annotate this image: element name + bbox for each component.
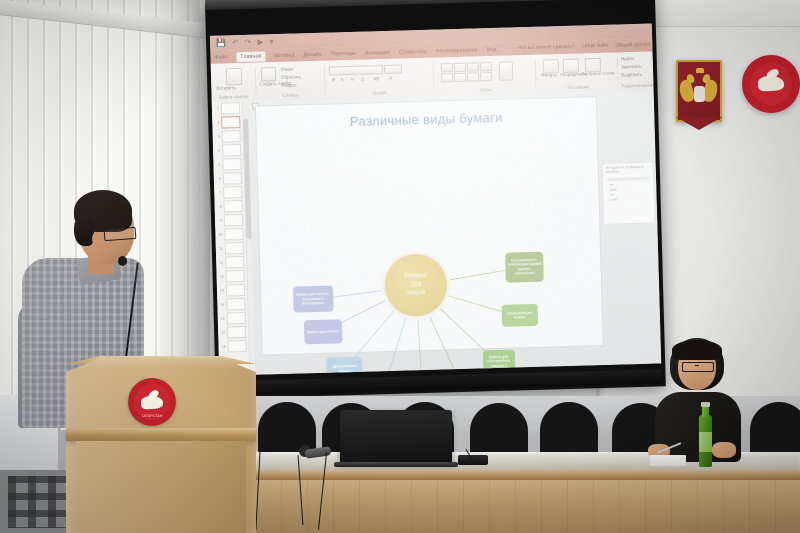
diagram-connector (440, 309, 490, 357)
hub-line-2: 229 (410, 281, 421, 290)
slide-thumbnail-image[interactable] (221, 102, 240, 115)
slide-title[interactable]: Различные виды бумаги (256, 107, 596, 131)
present-icon[interactable]: ▶ (257, 37, 263, 46)
conference-room-photo: 💾 ↶ ↷ ▶ ▾ КУ СОЭ - PowerPoint ▢ – □ ✕ Фа… (0, 0, 800, 533)
diagram-node[interactable]: Промышленно-техническая бумага разного н… (505, 251, 544, 282)
tab-file[interactable]: Файл (214, 54, 227, 60)
podium-emblem-caption: ТАТАРСТАН (128, 414, 176, 418)
side-pane-item-4[interactable]: отоб (604, 197, 654, 203)
slide-number: 11 (218, 247, 223, 251)
slide-thumbnail-image[interactable] (225, 242, 244, 255)
align-center-icon[interactable] (454, 73, 466, 82)
ribbon-group-editing[interactable]: Найти Заменить Выделить Редактирование (621, 54, 654, 89)
tab-view[interactable]: Вид (486, 46, 496, 52)
slide-number: 2 (214, 121, 219, 125)
redo-icon[interactable]: ↷ (245, 38, 252, 47)
slide-number: 12 (218, 261, 223, 265)
indent-icon[interactable] (467, 62, 479, 71)
ribbon-group-font[interactable]: Ж К Ч S AB A Шрифт (329, 60, 430, 97)
slide-thumbnail[interactable]: 7 (214, 185, 244, 200)
slide-thumbnail[interactable]: 6 (214, 171, 244, 186)
slide-thumbnail-image[interactable] (226, 284, 245, 297)
tab-animations[interactable]: Анимация (365, 49, 390, 56)
slide-thumbnail[interactable]: 9 (215, 213, 245, 228)
group-label-drawing: Рисование (541, 84, 615, 91)
bottle-label (699, 432, 712, 452)
presenter-hair-side (74, 216, 94, 246)
underline-button[interactable]: Ч (351, 77, 354, 82)
italic-button[interactable]: К (341, 77, 344, 82)
shapes-label[interactable]: Фигуры (541, 72, 557, 77)
shadow-button[interactable]: S (361, 77, 364, 82)
coat-of-arms-russia-icon (676, 60, 722, 122)
reset-label[interactable]: Сбросить (281, 74, 302, 80)
new-slide-icon[interactable] (261, 67, 276, 81)
convert-smartart-icon[interactable] (499, 61, 514, 80)
slide-thumbnail[interactable]: 11 (216, 241, 246, 256)
font-style-buttons[interactable]: Ж (331, 77, 338, 82)
attendee-hair-fringe (672, 340, 722, 360)
group-label-editing: Редактирование (621, 83, 653, 89)
slide-number: 18 (221, 345, 226, 349)
hub-line-1: Бумага (405, 272, 427, 281)
slide-thumbnail[interactable]: 14 (217, 283, 247, 298)
quick-styles-label[interactable]: Экспресс-стили (581, 71, 615, 77)
notes-button[interactable]: Заметки (369, 375, 385, 376)
slide-thumbnail-image[interactable] (222, 130, 241, 143)
laptop[interactable] (340, 410, 452, 464)
tab-insert[interactable]: Вставка (274, 52, 294, 59)
conference-chair (540, 402, 598, 458)
hub-line-3: видов (407, 289, 425, 298)
share-button[interactable]: Общий доступ (615, 42, 650, 49)
slide-number: 14 (219, 289, 224, 293)
slide-thumbnail[interactable]: 5 (213, 157, 243, 172)
diagram-node-label: Впитывающая бумага (503, 311, 535, 321)
slide-number: 15 (219, 303, 224, 307)
slide-thumbnail[interactable]: 1 (212, 101, 242, 116)
slide-thumbnail-image[interactable] (224, 228, 243, 241)
diagram-node[interactable]: Бумага для печати, переплета и репродукц… (292, 285, 333, 312)
slide-thumbnail[interactable]: 4 (213, 143, 243, 158)
slide-thumbnail-image[interactable] (227, 312, 246, 325)
coat-of-arms-russia-shield-point (676, 117, 722, 130)
projection-surface: 💾 ↶ ↷ ▶ ▾ КУ СОЭ - PowerPoint ▢ – □ ✕ Фа… (210, 24, 661, 376)
slide-thumbnail-image[interactable] (227, 340, 246, 353)
chevron-down-icon[interactable]: ▾ (269, 37, 273, 46)
section-label[interactable]: Раздел (281, 82, 296, 87)
notebook[interactable] (650, 455, 686, 466)
laptop-base (334, 462, 458, 467)
ribbon-group-slides[interactable]: Создать слайд Макет Сбросить Раздел Слай… (259, 63, 322, 99)
attendee-glasses-bridge (695, 365, 699, 366)
slide-thumbnail[interactable]: 13 (216, 269, 246, 284)
slide-thumbnail-image[interactable] (223, 200, 242, 213)
slide-number: 4 (215, 149, 220, 153)
slide-stage: Не удается отобразить рисунок. Различные… (248, 90, 661, 375)
slide-number: 9 (217, 219, 222, 223)
align-right-icon[interactable] (467, 72, 479, 81)
select-label[interactable]: Выделить (621, 72, 642, 78)
diagram-connector (351, 311, 394, 362)
slide-thumbnail[interactable]: 8 (214, 199, 244, 214)
slide-thumbnail[interactable]: 10 (215, 227, 245, 242)
font-name-box[interactable] (329, 65, 383, 76)
diagram-node[interactable]: Впитывающая бумага (501, 304, 538, 327)
slide-thumbnail[interactable]: 16 (218, 311, 248, 326)
slide-thumbnail[interactable]: 12 (216, 255, 246, 270)
align-left-icon[interactable] (441, 73, 453, 82)
ribbon-group-clipboard[interactable]: Вставить Буфер обмена (213, 65, 254, 100)
tab-slideshow[interactable]: Слайд-шоу (399, 48, 427, 55)
slide-thumbnail-image[interactable] (224, 214, 243, 227)
numbering-icon[interactable] (454, 63, 466, 72)
side-pane-title: Не удается отобразить рисунок. (603, 163, 653, 176)
slide-canvas[interactable]: Различные виды бумаги Бумага для печати,… (256, 97, 603, 354)
slide-thumbnail[interactable]: 2 (212, 115, 242, 130)
group-label-slides: Слайды (260, 92, 322, 99)
diagram-connector (449, 269, 512, 281)
slide-number: 5 (215, 163, 220, 167)
conference-chair (750, 402, 800, 458)
bullets-icon[interactable] (441, 63, 453, 72)
table-wood-grain (255, 480, 800, 533)
podium-molding (66, 428, 256, 441)
slide-thumbnail-image[interactable] (222, 158, 241, 171)
tab-design[interactable]: Дизайн (303, 51, 321, 58)
group-label-clipboard: Буфер обмена (214, 94, 254, 100)
font-color-button[interactable]: A (389, 76, 392, 81)
diagram-node[interactable]: Декоративная бумага (326, 356, 363, 375)
tab-transitions[interactable]: Переходы (330, 50, 355, 57)
slide-number: 6 (216, 177, 221, 181)
tab-home[interactable]: Главная (237, 51, 266, 62)
slide-thumbnail-image[interactable] (221, 116, 240, 129)
diagram-connector (384, 318, 406, 376)
slide-number: 8 (217, 205, 222, 209)
slide-thumbnail-image[interactable] (225, 256, 244, 269)
attendee-right-hand (712, 442, 736, 458)
slide-thumbnail-image[interactable] (226, 298, 245, 311)
bottle-cap (701, 402, 710, 407)
conference-chair (470, 403, 528, 459)
diagram-node[interactable]: Бумага для изготовления товаров и издели… (482, 349, 515, 376)
line-spacing-icon[interactable] (480, 62, 492, 71)
ribbon-group-drawing[interactable]: Фигуры Упорядочить Экспресс-стили Рисова… (541, 55, 616, 91)
diagram-node-label: Промышленно-техническая бумага разного н… (507, 258, 541, 277)
projection-screen: 💾 ↶ ↷ ▶ ▾ КУ СОЭ - PowerPoint ▢ – □ ✕ Фа… (205, 0, 666, 399)
tab-review[interactable]: Рецензирование (436, 47, 478, 54)
slide-thumbnail[interactable]: 18 (218, 339, 248, 354)
diagram-hub[interactable]: Бумага 229 видов (384, 253, 448, 317)
slide-thumbnail-image[interactable] (223, 172, 242, 185)
gooseneck-microphone-head (118, 256, 127, 266)
podium-base (76, 441, 246, 533)
undo-icon[interactable]: ↶ (232, 38, 239, 47)
slide-number: 17 (220, 331, 225, 335)
diagram-node-label: Бумага для изготовления товаров и издели… (485, 354, 513, 372)
paste-label[interactable]: Вставить (216, 85, 236, 91)
save-icon[interactable]: 💾 (216, 38, 226, 47)
side-task-pane[interactable]: Не удается отобразить рисунок. Не удае т… (602, 162, 656, 225)
slide-number: 16 (220, 317, 225, 321)
layout-label[interactable]: Макет (281, 67, 294, 72)
slide-thumbnail-image[interactable] (225, 270, 244, 283)
find-label[interactable]: Найти (621, 56, 634, 61)
slide-thumbnail-image[interactable] (227, 326, 246, 339)
slide-thumbnail[interactable]: 15 (217, 297, 247, 312)
slide-thumbnail[interactable]: 3 (213, 129, 243, 144)
replace-label[interactable]: Заменить (621, 64, 642, 70)
diagram-node[interactable]: Бумага для печати (304, 319, 343, 344)
slide-number: 1 (214, 107, 219, 111)
slide-number: 13 (219, 275, 224, 279)
account-name[interactable]: Lenar Safin (582, 43, 609, 50)
slide-number: 3 (215, 135, 220, 139)
char-spacing-button[interactable]: AB (373, 76, 379, 81)
slide-number: 10 (217, 233, 222, 237)
slide-thumbnail[interactable]: 17 (218, 325, 248, 340)
paste-icon[interactable] (226, 68, 242, 85)
diagram-node-label: Бумага для печати, переплета и репродукц… (295, 292, 331, 306)
slide-number: 7 (216, 191, 221, 195)
ribbon-group-paragraph[interactable]: Абзац (439, 57, 532, 94)
attendee-glasses-icon (682, 362, 714, 372)
attendee-face (682, 355, 712, 389)
diagram-connector (418, 320, 424, 376)
diagram-node-label: Бумага для печати (307, 329, 339, 334)
presenter-ear (92, 232, 102, 245)
slide-thumbnail-image[interactable] (223, 186, 242, 199)
columns-icon[interactable] (480, 72, 492, 81)
font-size-box[interactable] (384, 65, 402, 74)
slide-thumbnail-image[interactable] (222, 144, 241, 157)
glasses-icon (104, 227, 137, 241)
